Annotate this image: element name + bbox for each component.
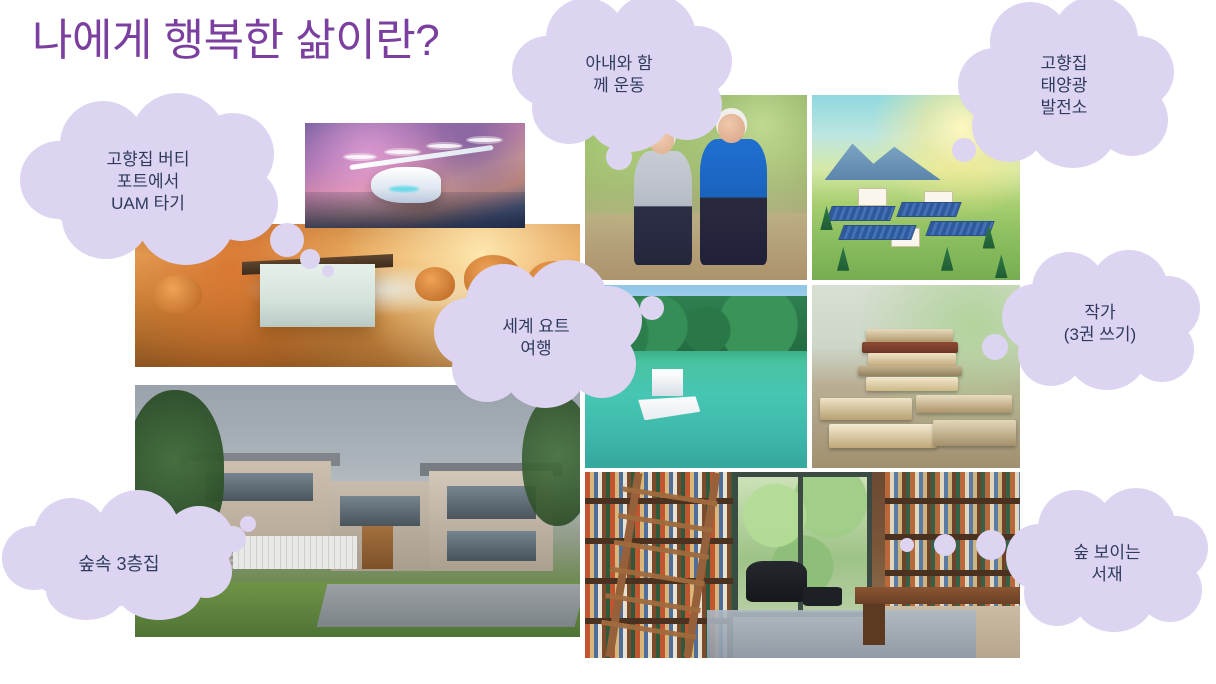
bubble-tail-circle: [934, 534, 956, 556]
bubble-label: 숲속 3층집: [72, 553, 165, 576]
rotor-icon: [468, 138, 501, 142]
lounge-chair: [746, 561, 807, 602]
uam-aircraft-art: [305, 123, 525, 228]
book-icon: [858, 366, 962, 377]
solar-panel-row: [926, 221, 996, 236]
bubble-tail-circle: [300, 249, 320, 269]
window-pane: [447, 531, 536, 561]
window-pane: [340, 496, 420, 526]
solar-panel-row: [897, 202, 963, 217]
solar-panel-row: [826, 206, 896, 221]
front-door: [362, 526, 393, 569]
bubble-cloud: 숲 보이는 서재: [1026, 516, 1188, 612]
fir-tree-icon: [941, 247, 953, 271]
bubble-tail-circle: [606, 144, 632, 170]
slide-canvas: 나에게 행복한 삶이란? 고향집 버티 포트에서 UAM 타기 아내와 함 께 …: [0, 0, 1216, 684]
bubble-label: 고향집 태양광 발전소: [1035, 53, 1094, 119]
book-icon: [866, 329, 953, 342]
bubble-tail-circle: [900, 538, 914, 552]
head-man: [718, 114, 745, 144]
book-icon: [866, 377, 958, 392]
desk-top: [855, 587, 1020, 604]
forest-path: [585, 213, 807, 280]
driveway: [317, 584, 580, 627]
thought-bubble-exercise-with-wife[interactable]: 아내와 함 께 운동: [528, 22, 710, 128]
person-woman: [634, 151, 692, 266]
garage-doors: [233, 536, 358, 569]
house-body: [260, 264, 376, 327]
tree-icon: [522, 395, 580, 526]
fir-tree-icon: [837, 247, 849, 271]
bubble-cloud: 세계 요트 여행: [452, 288, 620, 388]
photo-home-library: [585, 472, 1020, 658]
rotor-icon: [386, 150, 419, 154]
autumn-tree-icon: [153, 275, 202, 312]
yacht-cabin: [652, 369, 683, 396]
thought-bubble-study-room[interactable]: 숲 보이는 서재: [1026, 516, 1188, 612]
photo-book-stack: [812, 285, 1020, 468]
bubble-tail-circle: [640, 296, 664, 320]
bubble-tail-circle: [952, 138, 976, 162]
aircraft-fuselage: [371, 167, 441, 203]
book-stack-art: [812, 285, 1020, 468]
book-icon: [916, 395, 1012, 413]
book-icon: [868, 353, 955, 366]
page-title: 나에게 행복한 삶이란?: [32, 16, 439, 67]
desk-leg: [863, 604, 885, 645]
bubble-tail-circle: [270, 223, 304, 257]
bubble-label: 세계 요트 여행: [496, 316, 575, 360]
bubble-label: 아내와 함 께 운동: [579, 53, 658, 97]
autumn-tree-icon: [415, 267, 455, 301]
mountain-shape: [824, 139, 940, 180]
bubble-cloud: 작가 (3권 쓰기): [1020, 276, 1180, 372]
thought-bubble-solar-plant[interactable]: 고향집 태양광 발전소: [976, 22, 1152, 150]
thought-bubble-yacht-travel[interactable]: 세계 요트 여행: [452, 288, 620, 388]
bubble-tail-circle: [982, 334, 1008, 360]
bubble-label: 고향집 버티 포트에서 UAM 타기: [101, 149, 196, 215]
book-icon: [933, 420, 1016, 446]
rotor-icon: [345, 155, 376, 159]
thought-bubble-forest-house[interactable]: 숲속 3층집: [24, 524, 214, 606]
home-library-art: [585, 472, 1020, 658]
rotor-icon: [428, 144, 461, 148]
window-pane: [447, 486, 536, 519]
solar-panel-row: [838, 225, 916, 240]
thought-bubble-uam[interactable]: 고향집 버티 포트에서 UAM 타기: [34, 123, 262, 241]
book-icon: [862, 342, 958, 353]
bubble-tail-circle: [240, 516, 256, 532]
area-rug: [707, 610, 977, 658]
fir-tree-icon: [995, 254, 1007, 278]
bubble-tail-circle: [976, 530, 1006, 560]
bubble-label: 작가 (3권 쓰기): [1058, 302, 1142, 346]
bubble-tail-circle: [322, 265, 334, 277]
thought-bubble-author[interactable]: 작가 (3권 쓰기): [1020, 276, 1180, 372]
ottoman: [803, 587, 842, 606]
bubble-cloud: 고향집 태양광 발전소: [976, 22, 1152, 150]
book-icon: [829, 424, 937, 448]
bubble-cloud: 아내와 함 께 운동: [528, 22, 710, 128]
person-man: [700, 139, 767, 265]
bubble-cloud: 고향집 버티 포트에서 UAM 타기: [34, 123, 262, 241]
cottage-icon: [858, 188, 887, 207]
book-icon: [820, 398, 912, 420]
bubble-label: 숲 보이는 서재: [1067, 542, 1146, 586]
photo-uam-aircraft: [305, 123, 525, 228]
bubble-cloud: 숲속 3층집: [24, 524, 214, 606]
